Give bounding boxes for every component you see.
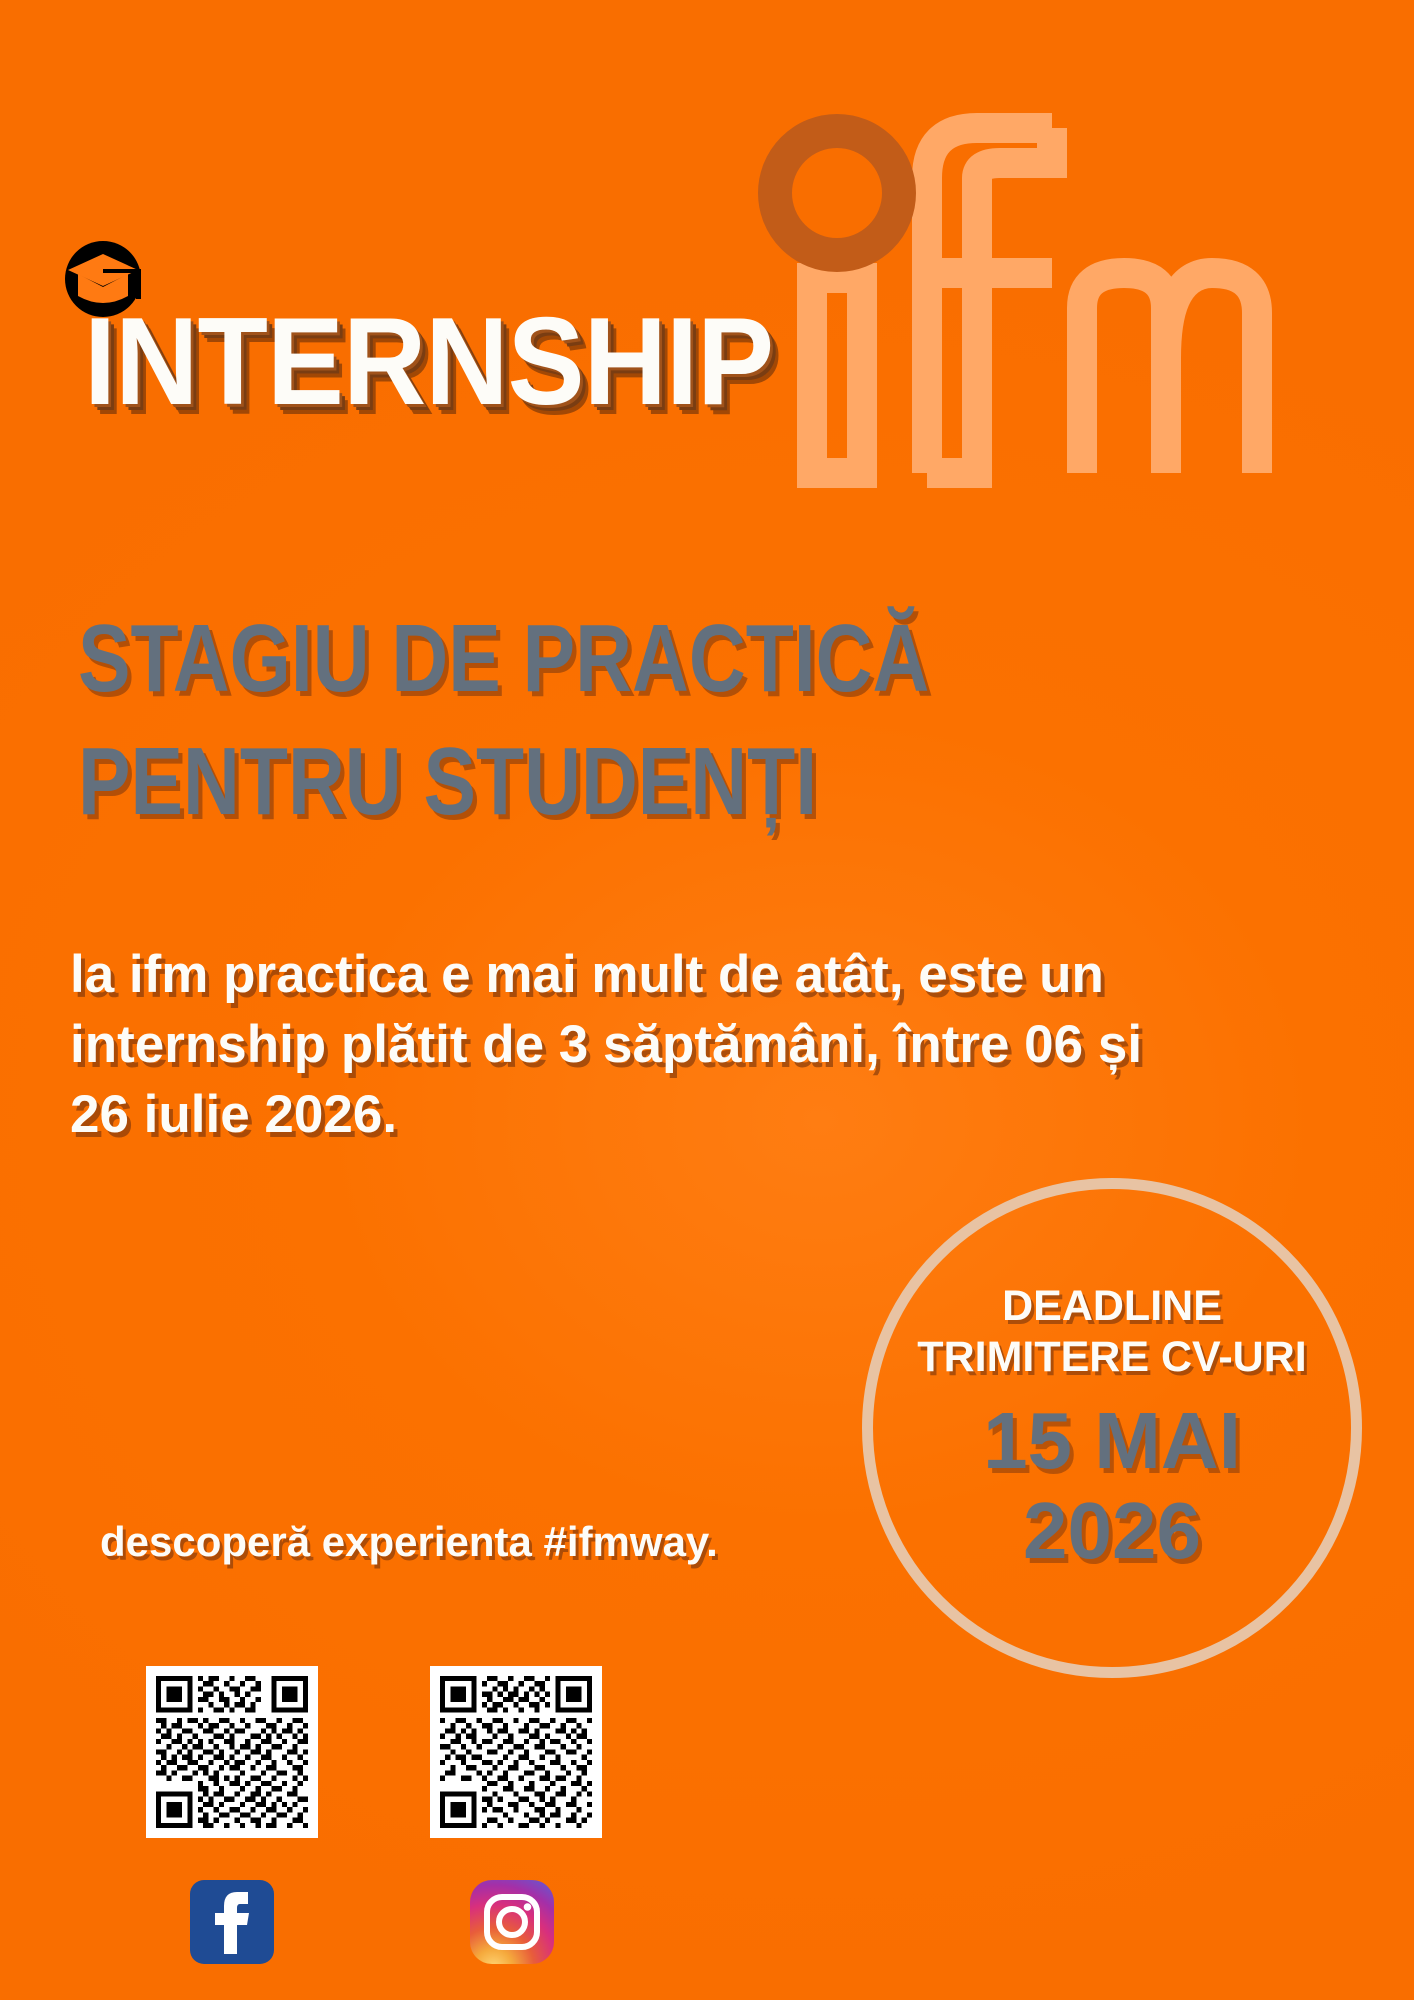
facebook-icon[interactable] (190, 1880, 274, 1964)
poster-canvas: INTERNSHIP STAGIU DE PRACTICĂ PENTRU STU… (0, 0, 1414, 2000)
qr-code-right[interactable] (430, 1666, 602, 1838)
page-title: INTERNSHIP (84, 300, 773, 424)
body-line-3: 26 iulie 2026. (70, 1080, 1370, 1150)
instagram-icon[interactable] (470, 1880, 554, 1964)
deadline-label: DEADLINE TRIMITERE CV-URI (917, 1281, 1306, 1384)
qr-code-left[interactable] (146, 1666, 318, 1838)
subtitle-block: STAGIU DE PRACTICĂ PENTRU STUDENȚI (78, 598, 929, 844)
deadline-label-line-2: TRIMITERE CV-URI (917, 1332, 1306, 1384)
deadline-badge: DEADLINE TRIMITERE CV-URI 15 MAI 2026 (862, 1178, 1362, 1678)
tagline: descoperă experienta #ifmway. (100, 1518, 718, 1566)
body-line-2: internship plătit de 3 săptămâni, între … (70, 1010, 1370, 1080)
body-paragraph: la ifm practica e mai mult de atât, este… (70, 940, 1370, 1150)
deadline-date-line-1: 15 MAI (983, 1396, 1241, 1486)
deadline-label-line-1: DEADLINE (917, 1281, 1306, 1333)
subtitle-line-2: PENTRU STUDENȚI (78, 721, 929, 844)
ifm-logo-watermark (752, 58, 1332, 538)
deadline-date: 15 MAI 2026 (983, 1396, 1241, 1575)
deadline-date-line-2: 2026 (983, 1486, 1241, 1576)
subtitle-line-1: STAGIU DE PRACTICĂ (78, 598, 929, 721)
body-line-1: la ifm practica e mai mult de atât, este… (70, 940, 1370, 1010)
